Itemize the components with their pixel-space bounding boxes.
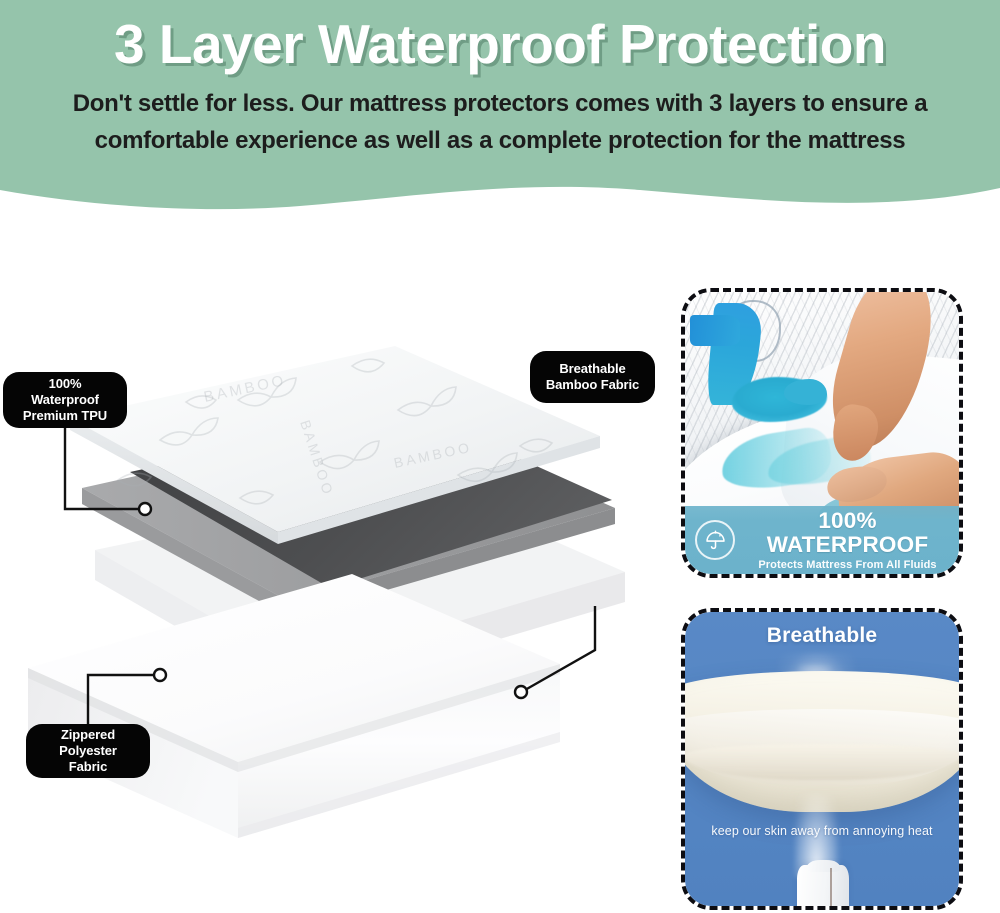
callout-bamboo-fabric: Breathable Bamboo Fabric xyxy=(530,351,655,403)
breathable-caption: keep our skin away from annoying heat xyxy=(685,824,959,838)
waterproof-banner-title: 100% WATERPROOF xyxy=(742,509,953,556)
waterproof-banner: 100% WATERPROOF Protects Mattress From A… xyxy=(685,506,959,574)
waterproof-banner-subtitle: Protects Mattress From All Fluids xyxy=(742,559,953,571)
panel-waterproof: 100% WATERPROOF Protects Mattress From A… xyxy=(681,288,963,578)
humidifier-nozzle xyxy=(807,860,840,872)
breathable-title: Breathable xyxy=(685,624,959,648)
umbrella-droplet-icon xyxy=(695,520,735,560)
pitcher-spout xyxy=(690,315,739,346)
breathable-photo-scene xyxy=(685,612,959,906)
liquid-splash xyxy=(784,379,828,404)
panel-breathable: Breathable keep our skin away from annoy… xyxy=(681,608,963,910)
callout-waterproof-tpu: 100% Waterproof Premium TPU xyxy=(3,372,127,428)
layer-diagram: BAMBOO BAMBOO BAMBOO xyxy=(0,250,660,913)
infographic-root: 3 Layer Waterproof Protection Don't sett… xyxy=(0,0,1000,913)
panel-waterproof-image: 100% WATERPROOF Protects Mattress From A… xyxy=(685,292,959,574)
humidifier-seam xyxy=(830,868,832,906)
header-wave-shape xyxy=(0,0,1000,209)
callout-zippered-fabric: Zippered Polyester Fabric xyxy=(26,724,150,778)
panel-breathable-image: Breathable keep our skin away from annoy… xyxy=(685,612,959,906)
waterproof-banner-text: 100% WATERPROOF Protects Mattress From A… xyxy=(742,509,959,570)
header-band xyxy=(0,0,1000,232)
